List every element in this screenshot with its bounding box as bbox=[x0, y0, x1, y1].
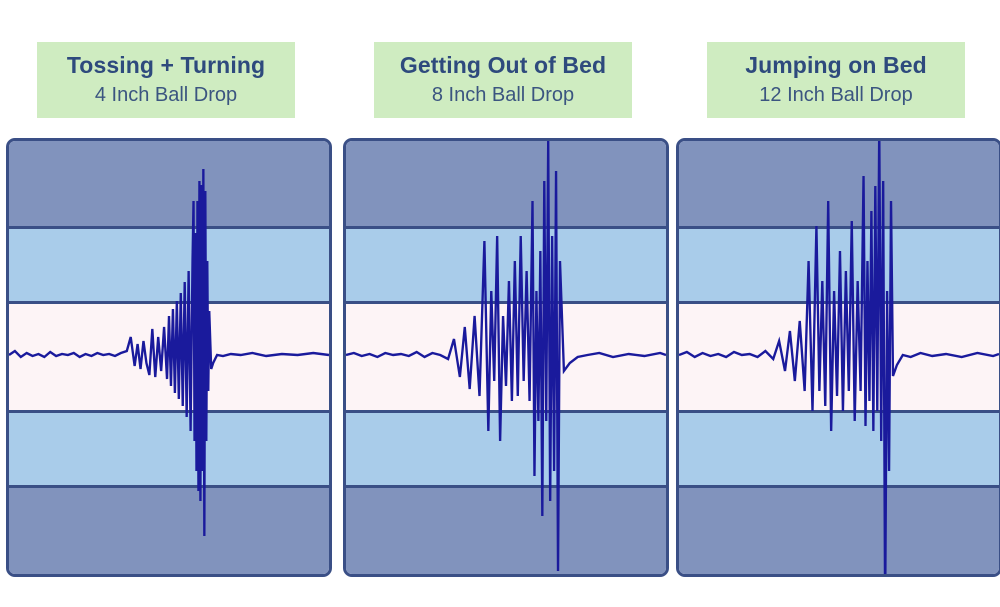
seismograph-panel-2 bbox=[343, 138, 669, 577]
waveform-chart-1 bbox=[9, 141, 329, 574]
panel-header-badge-2: Getting Out of Bed 8 Inch Ball Drop bbox=[374, 42, 632, 118]
waveform-trace-1 bbox=[9, 169, 329, 536]
panel-subtitle-1: 4 Inch Ball Drop bbox=[95, 82, 237, 108]
panel-header-badge-1: Tossing + Turning 4 Inch Ball Drop bbox=[37, 42, 295, 118]
panel-title-3: Jumping on Bed bbox=[745, 52, 927, 78]
seismograph-comparison-board: Tossing + Turning 4 Inch Ball Drop Getti… bbox=[0, 0, 1000, 607]
waveform-trace-3 bbox=[679, 141, 999, 574]
panel-header-badge-3: Jumping on Bed 12 Inch Ball Drop bbox=[707, 42, 965, 118]
seismograph-panel-3 bbox=[676, 138, 1000, 577]
panel-column-1: Tossing + Turning 4 Inch Ball Drop bbox=[0, 0, 333, 607]
panel-column-2: Getting Out of Bed 8 Inch Ball Drop bbox=[337, 0, 670, 607]
panel-title-2: Getting Out of Bed bbox=[400, 52, 606, 78]
panel-subtitle-2: 8 Inch Ball Drop bbox=[432, 82, 574, 108]
waveform-chart-3 bbox=[679, 141, 999, 574]
seismograph-panel-1 bbox=[6, 138, 332, 577]
panel-subtitle-3: 12 Inch Ball Drop bbox=[759, 82, 912, 108]
waveform-chart-2 bbox=[346, 141, 666, 574]
panel-column-3: Jumping on Bed 12 Inch Ball Drop bbox=[670, 0, 1000, 607]
panel-title-1: Tossing + Turning bbox=[67, 52, 265, 78]
waveform-trace-2 bbox=[346, 141, 666, 571]
